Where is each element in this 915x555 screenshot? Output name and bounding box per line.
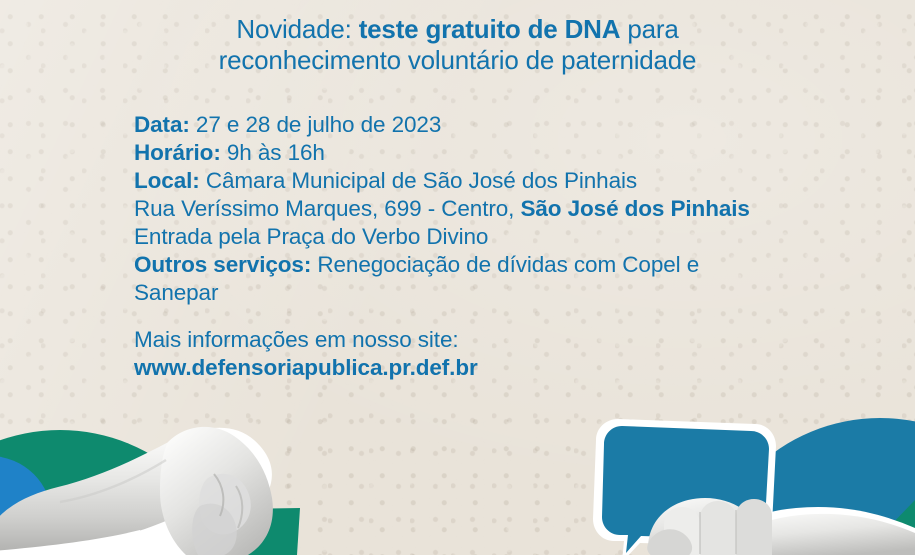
detail-row-place: Local: Câmara Municipal de São José dos … — [134, 167, 834, 195]
detail-row-services-wrap: Sanepar — [134, 279, 834, 307]
blue-circle-shape-left — [0, 456, 52, 555]
detail-row-address: Rua Veríssimo Marques, 699 - Centro, São… — [134, 195, 834, 223]
address-city: São José dos Pinhais — [520, 196, 749, 221]
site-info: Mais informações em nosso site: www.defe… — [134, 326, 834, 382]
detail-row-services: Outros serviços: Renegociação de dívidas… — [134, 251, 834, 279]
headline-emphasis: teste gratuito de DNA — [359, 14, 621, 44]
green-circle-shape — [0, 430, 240, 555]
hand-holding-bubble-illustration — [647, 498, 915, 555]
site-url[interactable]: www.defensoriapublica.pr.def.br — [134, 354, 834, 382]
green-rectangle-shape — [169, 508, 300, 555]
services-value-wrap: Sanepar — [134, 280, 218, 305]
date-value: 27 e 28 de julho de 2023 — [190, 112, 441, 137]
green-sliver-shape — [862, 500, 915, 555]
fist-lower-finger-shading — [192, 504, 237, 555]
blue-circle-shape-right — [700, 418, 915, 555]
fist-fingers-shading — [199, 474, 251, 534]
detail-row-time: Horário: 9h às 16h — [134, 139, 834, 167]
headline-line-1: Novidade: teste gratuito de DNA para — [236, 14, 678, 44]
time-label: Horário: — [134, 140, 221, 165]
detail-row-entrance: Entrada pela Praça do Verbo Divino — [134, 223, 834, 251]
time-value: 9h às 16h — [221, 140, 325, 165]
fist-illustration — [160, 427, 273, 555]
wrist-crease — [60, 460, 166, 502]
headline-tail: para — [620, 14, 678, 44]
site-intro: Mais informações em nosso site: — [134, 326, 834, 354]
poster-canvas: Novidade: teste gratuito de DNA para rec… — [0, 0, 915, 555]
forearm-illustration — [0, 438, 210, 552]
detail-row-date: Data: 27 e 28 de julho de 2023 — [134, 111, 834, 139]
place-value: Câmara Municipal de São José dos Pinhais — [200, 168, 637, 193]
speech-bubble-outline — [593, 419, 776, 555]
services-value: Renegociação de dívidas com Copel e — [311, 252, 699, 277]
speech-bubble-shape — [602, 426, 769, 553]
fist-white-outline — [0, 428, 272, 555]
knuckle-line-2 — [236, 486, 242, 528]
date-label: Data: — [134, 112, 190, 137]
services-label: Outros serviços: — [134, 252, 311, 277]
headline: Novidade: teste gratuito de DNA para rec… — [0, 14, 915, 76]
headline-intro: Novidade: — [236, 14, 358, 44]
address-value: Rua Veríssimo Marques, 699 - Centro, — [134, 196, 520, 221]
place-label: Local: — [134, 168, 200, 193]
knuckle-line-1 — [214, 474, 223, 516]
event-details: Data: 27 e 28 de julho de 2023 Horário: … — [134, 111, 834, 307]
headline-line-2: reconhecimento voluntário de paternidade — [219, 45, 697, 75]
arm-base-white-strip — [0, 530, 150, 555]
entrance-value: Entrada pela Praça do Verbo Divino — [134, 224, 488, 249]
